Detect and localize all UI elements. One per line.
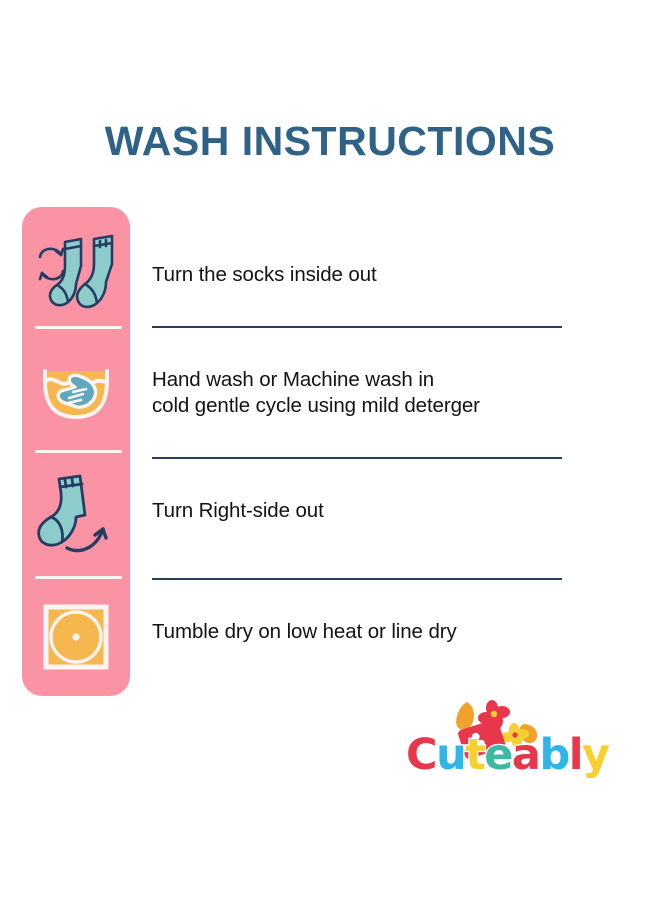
rail-divider bbox=[35, 450, 122, 453]
row-divider bbox=[152, 457, 562, 459]
rail-divider bbox=[35, 326, 122, 329]
page-title: WASH INSTRUCTIONS bbox=[0, 118, 660, 165]
instruction-row: Turn the socks inside out bbox=[152, 262, 564, 288]
instruction-text: Hand wash or Machine wash in bbox=[152, 367, 564, 393]
instruction-rows: Turn the socks inside out Hand wash or M… bbox=[152, 207, 564, 696]
instruction-text: Turn the socks inside out bbox=[152, 262, 564, 288]
icon-rail bbox=[22, 207, 130, 696]
instruction-row: Turn Right-side out bbox=[152, 498, 564, 524]
logo-letter: C bbox=[406, 730, 436, 780]
tumble-dry-icon bbox=[22, 582, 130, 692]
brand-logo: Cuteably bbox=[404, 694, 594, 786]
logo-letter: b bbox=[539, 730, 568, 780]
wash-instructions-card: WASH INSTRUCTIONS bbox=[0, 0, 660, 900]
instruction-text: Turn Right-side out bbox=[152, 498, 564, 524]
row-divider bbox=[152, 326, 562, 328]
instruction-text: cold gentle cycle using mild deterger bbox=[152, 393, 564, 419]
logo-wordmark: Cuteably bbox=[406, 732, 609, 778]
instruction-text: Tumble dry on low heat or line dry bbox=[152, 619, 564, 645]
logo-letter: l bbox=[569, 730, 582, 780]
logo-letter: y bbox=[582, 730, 609, 780]
sock-right-side-out-icon bbox=[22, 457, 130, 572]
logo-letter: u bbox=[436, 730, 465, 780]
logo-letter: t bbox=[465, 730, 484, 780]
logo-letter: e bbox=[484, 730, 512, 780]
hand-wash-icon bbox=[22, 333, 130, 448]
socks-inside-out-icon bbox=[22, 211, 130, 326]
row-divider bbox=[152, 578, 562, 580]
instruction-row: Hand wash or Machine wash in cold gentle… bbox=[152, 367, 564, 419]
rail-divider bbox=[35, 576, 122, 579]
logo-letter: a bbox=[512, 730, 540, 780]
instruction-row: Tumble dry on low heat or line dry bbox=[152, 619, 564, 645]
